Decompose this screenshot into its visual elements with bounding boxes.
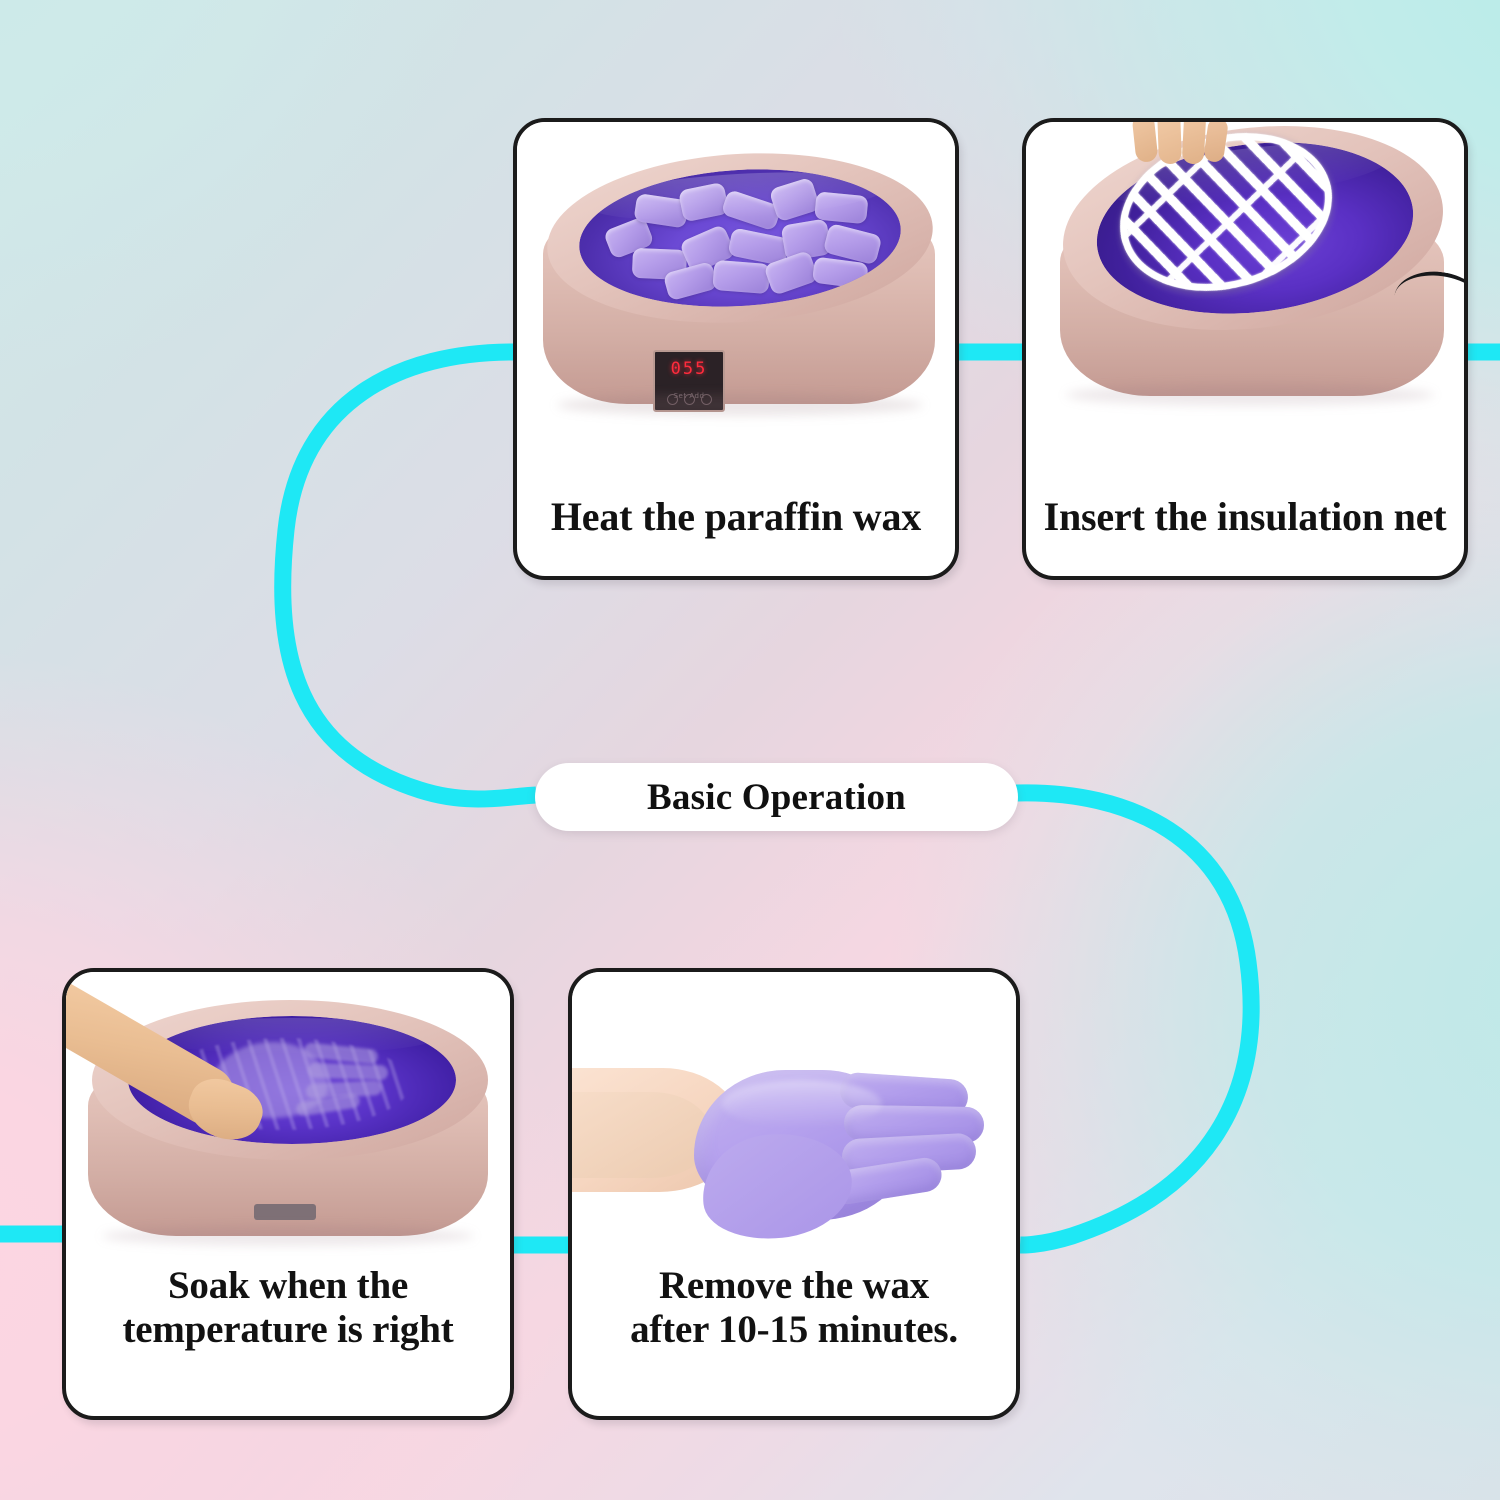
center-label-pill: Basic Operation [535, 763, 1018, 831]
connector-curve-right [1016, 793, 1251, 1245]
step-card-remove[interactable]: Remove the wax after 10-15 minutes. [568, 968, 1020, 1420]
step-card-soak[interactable]: Soak when the temperature is right [62, 968, 514, 1420]
step-photo-heat: 055 Set Add [517, 122, 955, 462]
infographic-root: 055 Set Add Heat the paraffin wax [0, 0, 1500, 1500]
center-label-text: Basic Operation [647, 776, 906, 819]
step-caption-remove: Remove the wax after 10-15 minutes. [572, 1258, 1016, 1416]
connector-curve-left [283, 352, 536, 799]
device-led-readout: 055 [655, 359, 723, 379]
step-card-heat[interactable]: 055 Set Add Heat the paraffin wax [513, 118, 959, 580]
step-caption-soak-line-1: Soak when the [74, 1264, 502, 1308]
step-caption-remove-line-2: after 10-15 minutes. [580, 1308, 1008, 1352]
step-caption-insert: Insert the insulation net [1026, 464, 1464, 576]
step-photo-remove [572, 972, 1016, 1262]
step-caption-soak-line-2: temperature is right [74, 1308, 502, 1352]
step-caption-heat: Heat the paraffin wax [517, 464, 955, 576]
step-caption-remove-line-1: Remove the wax [580, 1264, 1008, 1308]
step-photo-insert [1026, 122, 1464, 462]
step-photo-soak [66, 972, 510, 1262]
step-caption-soak: Soak when the temperature is right [66, 1258, 510, 1416]
step-card-insert[interactable]: Insert the insulation net [1022, 118, 1468, 580]
